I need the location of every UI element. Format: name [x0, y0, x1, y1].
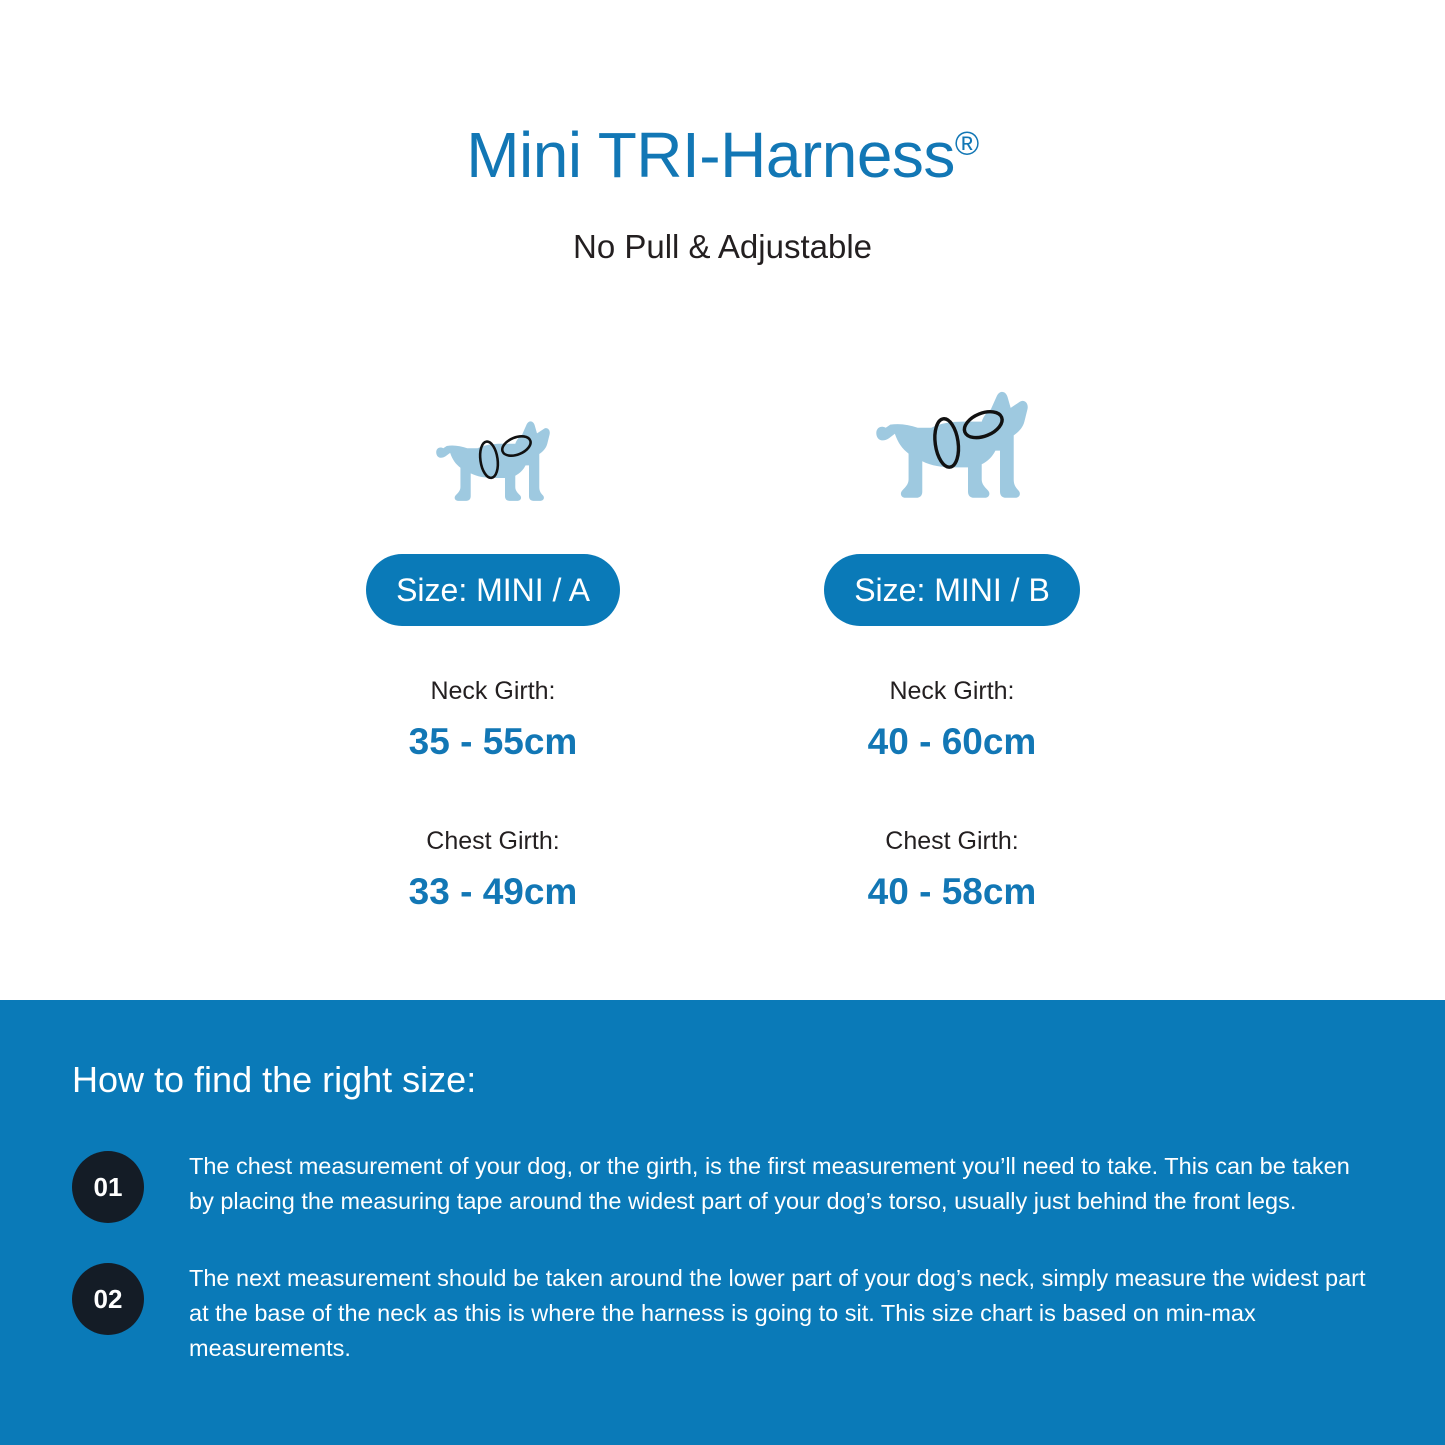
neck-girth-block-a: Neck Girth: 35 - 55cm: [409, 676, 578, 764]
neck-girth-block-b: Neck Girth: 40 - 60cm: [868, 676, 1037, 764]
how-to-section: How to find the right size: 01 The chest…: [0, 1000, 1445, 1445]
page-subtitle: No Pull & Adjustable: [0, 228, 1445, 266]
size-badge-mini-a[interactable]: Size: MINI / A: [366, 554, 620, 626]
size-chart-page: Mini TRI-Harness® No Pull & Adjustable: [0, 0, 1445, 1445]
step-number-badge: 01: [72, 1151, 144, 1223]
how-to-step: 01 The chest measurement of your dog, or…: [72, 1149, 1373, 1223]
size-column-mini-b: Size: MINI / B Neck Girth: 40 - 60cm Che…: [789, 380, 1116, 915]
dog-icon-wrapper: [433, 380, 553, 510]
dog-icon-wrapper: [872, 380, 1032, 510]
chest-girth-value: 40 - 58cm: [868, 870, 1037, 914]
chest-girth-block-a: Chest Girth: 33 - 49cm: [409, 826, 578, 914]
size-badge-mini-b[interactable]: Size: MINI / B: [824, 554, 1080, 626]
chest-girth-label: Chest Girth:: [409, 826, 578, 856]
page-title-text: Mini TRI-Harness: [466, 119, 955, 191]
step-number-badge: 02: [72, 1263, 144, 1335]
page-title: Mini TRI-Harness®: [0, 122, 1445, 189]
size-column-mini-a: Size: MINI / A Neck Girth: 35 - 55cm Che…: [330, 380, 657, 915]
chest-girth-label: Chest Girth:: [868, 826, 1037, 856]
product-header-section: Mini TRI-Harness® No Pull & Adjustable: [0, 0, 1445, 1000]
neck-girth-value: 40 - 60cm: [868, 720, 1037, 764]
size-columns: Size: MINI / A Neck Girth: 35 - 55cm Che…: [0, 380, 1445, 915]
neck-girth-value: 35 - 55cm: [409, 720, 578, 764]
how-to-step: 02 The next measurement should be taken …: [72, 1261, 1373, 1365]
registered-trademark-icon: ®: [955, 125, 979, 162]
step-text: The chest measurement of your dog, or th…: [189, 1149, 1373, 1219]
neck-girth-label: Neck Girth:: [409, 676, 578, 706]
step-text: The next measurement should be taken aro…: [189, 1261, 1373, 1365]
chest-girth-value: 33 - 49cm: [409, 870, 578, 914]
how-to-title: How to find the right size:: [72, 1058, 1373, 1101]
small-dog-with-measuring-loops-icon: [433, 414, 553, 510]
large-dog-with-measuring-loops-icon: [872, 382, 1032, 510]
chest-girth-block-b: Chest Girth: 40 - 58cm: [868, 826, 1037, 914]
neck-girth-label: Neck Girth:: [868, 676, 1037, 706]
